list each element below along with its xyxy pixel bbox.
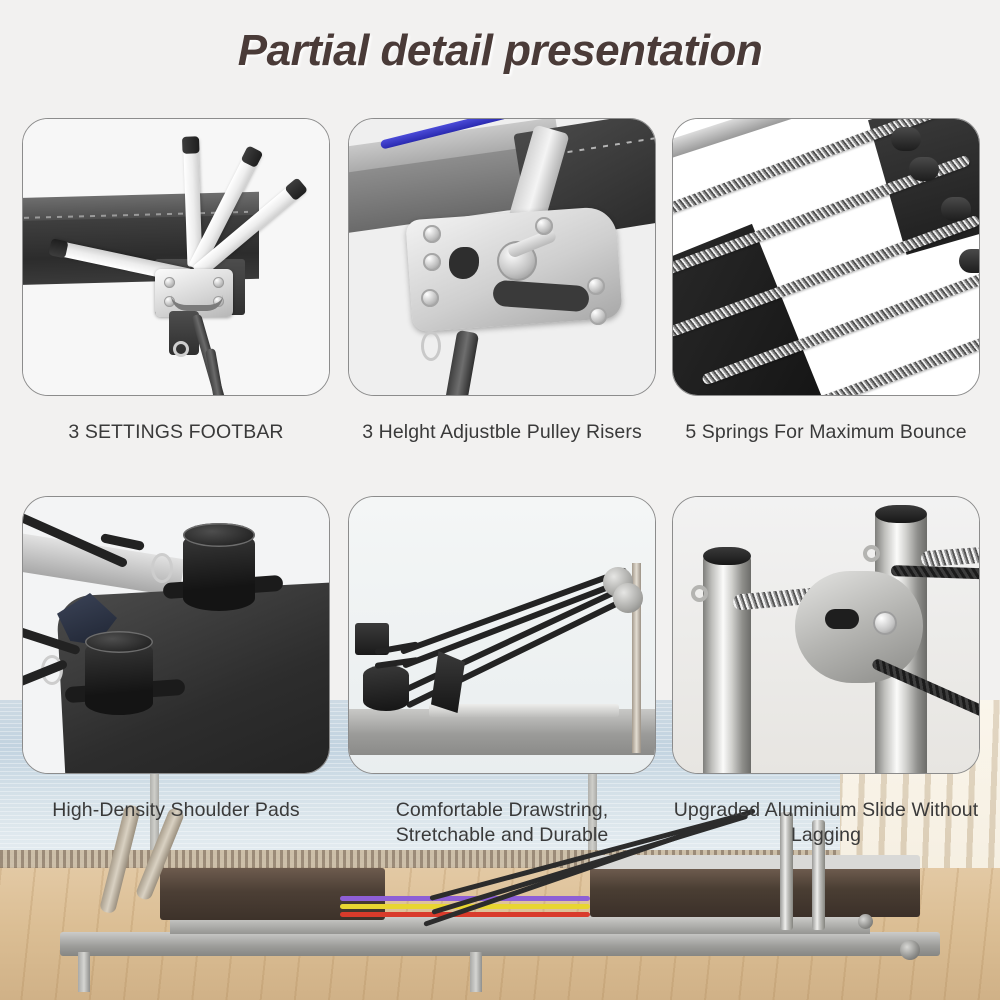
pulley-riser-icon [349, 119, 655, 395]
caption-springs: 5 Springs For Maximum Bounce [672, 420, 980, 445]
product-detail-page: Partial detail presentation [0, 0, 1000, 1000]
caption-drawstring: Comfortable Drawstring, Stretchable and … [348, 798, 656, 848]
reformer-wheel-2 [858, 914, 873, 929]
reformer-foot-left [78, 952, 90, 992]
caption-shoulder-pads: High-Density Shoulder Pads [22, 798, 330, 823]
caption-aluminium-slide: Upgraded Aluminium Slide Without Lagging [672, 798, 980, 848]
footbar-icon [23, 119, 329, 395]
caption-pulley-risers: 3 Helght Adjustble Pulley Risers [348, 420, 656, 445]
reformer-wheel [900, 940, 920, 960]
shoulder-pad-icon [23, 497, 329, 773]
drawstring-icon [349, 497, 655, 773]
caption-footbar: 3 SETTINGS FOOTBAR [22, 420, 330, 445]
reformer-foot-mid [470, 952, 482, 992]
feature-card-springs[interactable] [672, 118, 980, 396]
feature-card-aluminium-slide[interactable] [672, 496, 980, 774]
reformer-carriage-right [590, 855, 920, 917]
page-title: Partial detail presentation [0, 26, 1000, 76]
feature-card-pulley-risers[interactable] [348, 118, 656, 396]
spring-icon [673, 119, 979, 395]
feature-card-footbar[interactable] [22, 118, 330, 396]
feature-card-shoulder-pads[interactable] [22, 496, 330, 774]
feature-card-drawstring[interactable] [348, 496, 656, 774]
reformer-frame [60, 932, 940, 956]
aluminium-slide-icon [673, 497, 979, 773]
